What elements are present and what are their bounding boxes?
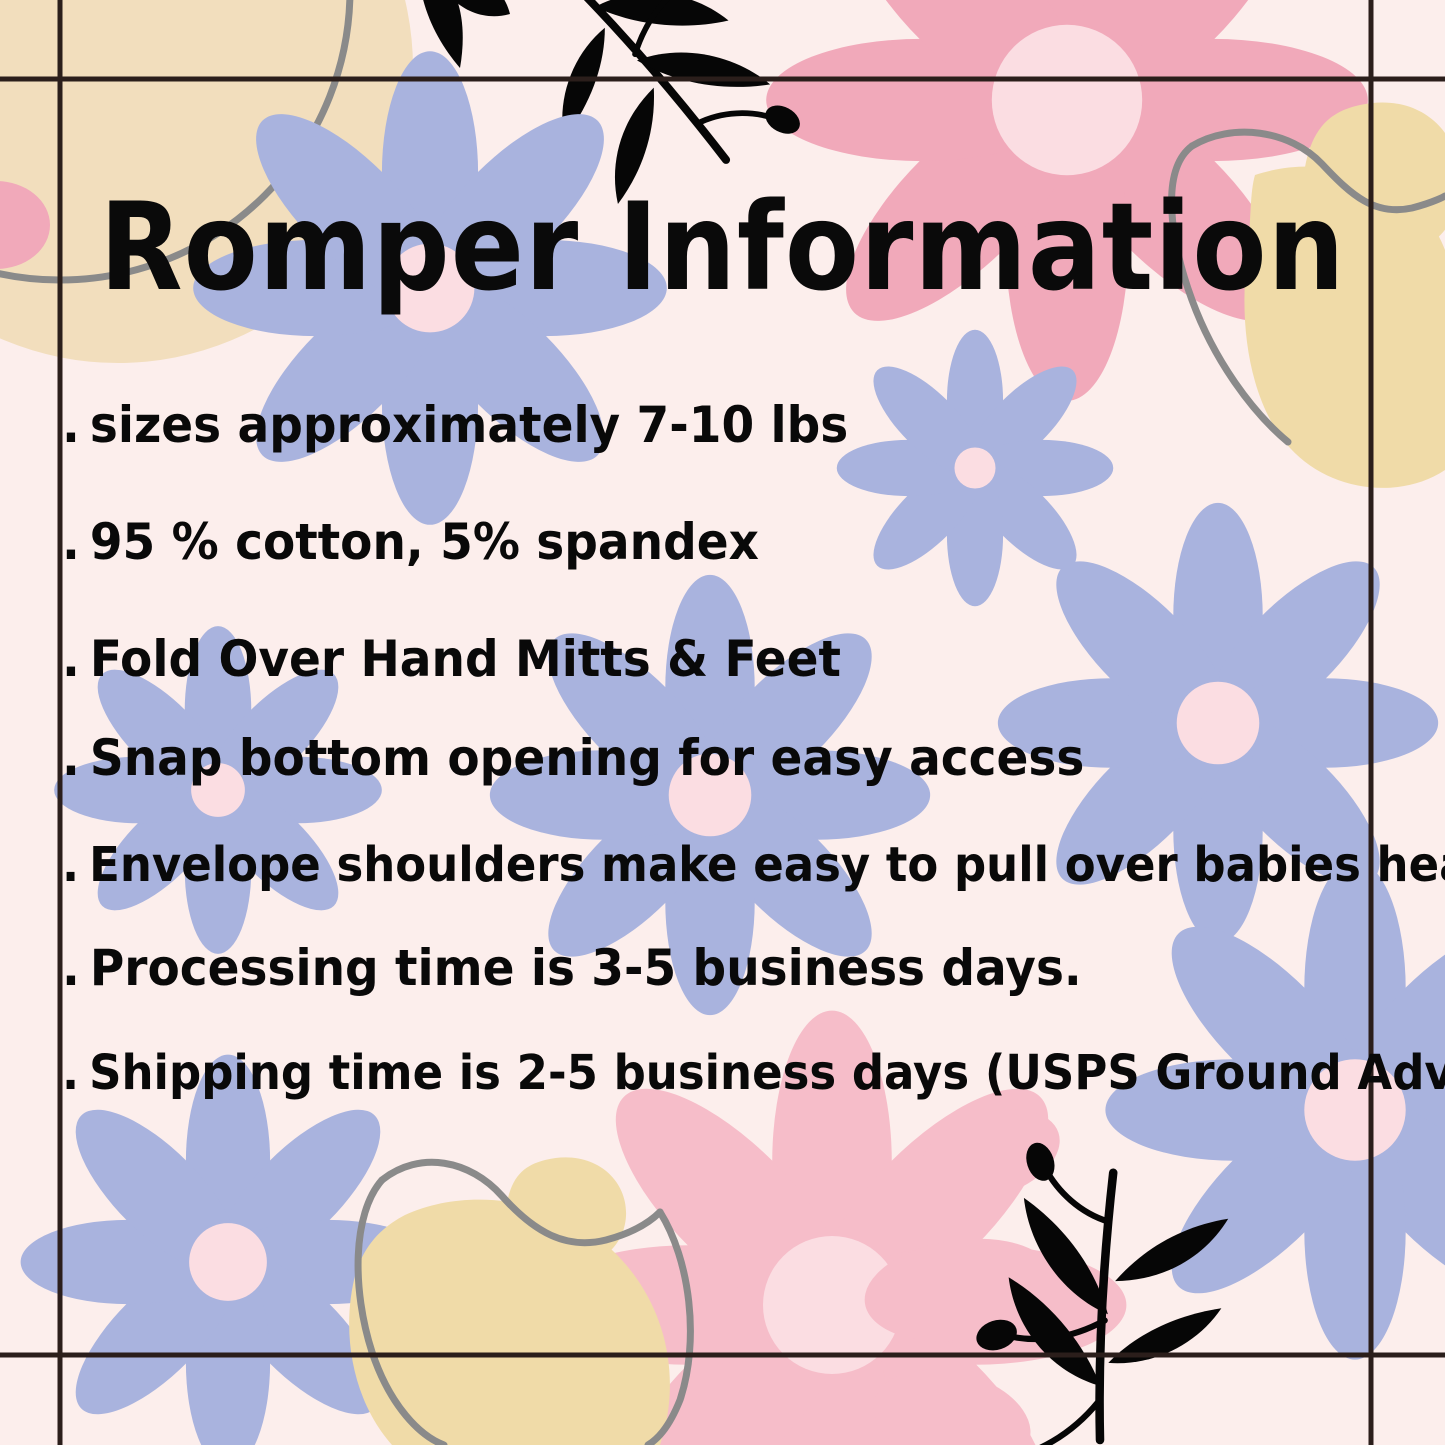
bullet-marker: . bbox=[62, 513, 80, 571]
bullet-marker: . bbox=[62, 1044, 79, 1100]
content-layer: Romper Information . sizes approximately… bbox=[0, 0, 1445, 1445]
list-item-label: Fold Over Hand Mitts & Feet bbox=[90, 630, 841, 688]
list-item: . Envelope shoulders make easy to pull o… bbox=[62, 836, 1415, 892]
list-item: . Processing time is 3-5 business days. bbox=[62, 939, 1415, 997]
page-title: Romper Information bbox=[0, 188, 1445, 309]
bullet-marker: . bbox=[62, 836, 79, 892]
feature-bullet-list: . sizes approximately 7-10 lbs . 95 % co… bbox=[62, 398, 1415, 1099]
list-item: . 95 % cotton, 5% spandex bbox=[62, 513, 1415, 571]
bullet-marker: . bbox=[62, 396, 80, 454]
list-item: . sizes approximately 7-10 lbs bbox=[62, 396, 1415, 454]
list-item-label: 95 % cotton, 5% spandex bbox=[90, 513, 759, 571]
list-item: . Shipping time is 2-5 business days (US… bbox=[62, 1044, 1415, 1100]
list-item-label: Shipping time is 2-5 business days (USPS… bbox=[89, 1044, 1445, 1100]
list-item-label: Snap bottom opening for easy access bbox=[90, 729, 1084, 787]
bullet-marker: . bbox=[62, 939, 80, 997]
list-item-label: Envelope shoulders make easy to pull ove… bbox=[89, 836, 1445, 892]
list-item-label: Processing time is 3-5 business days. bbox=[90, 939, 1082, 997]
list-item: . Snap bottom opening for easy access bbox=[62, 729, 1415, 787]
list-item-label: sizes approximately 7-10 lbs bbox=[90, 396, 848, 454]
romper-information-graphic: Romper Information . sizes approximately… bbox=[0, 0, 1445, 1445]
bullet-marker: . bbox=[62, 729, 80, 787]
list-item: . Fold Over Hand Mitts & Feet bbox=[62, 630, 1415, 688]
bullet-marker: . bbox=[62, 630, 80, 688]
